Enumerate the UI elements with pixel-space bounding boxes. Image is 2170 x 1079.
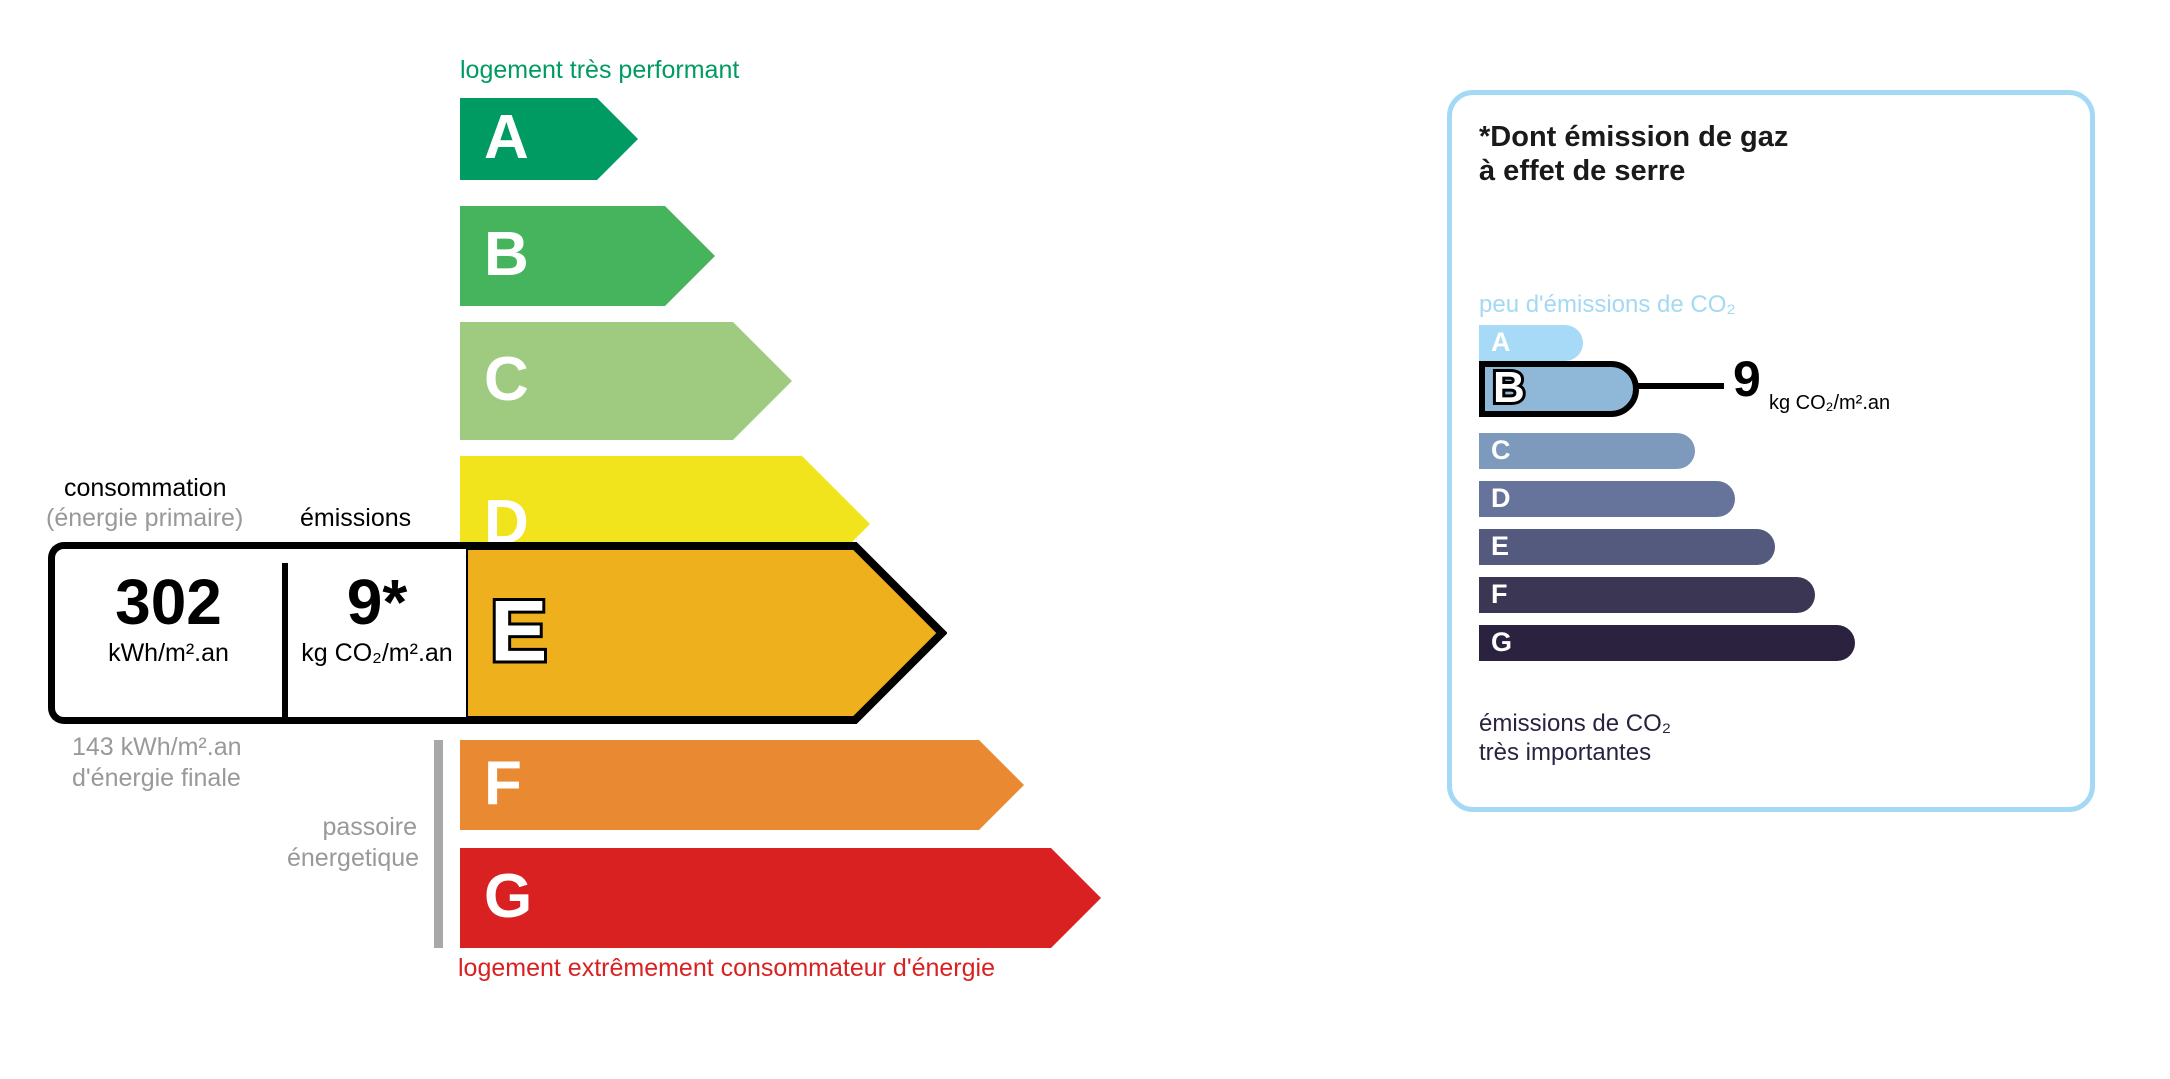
co2-band-G-letter: G: [1491, 629, 1512, 656]
co2-band-F[interactable]: F: [1479, 577, 1815, 613]
energy-band-G-letter: G: [484, 866, 532, 928]
co2-band-B-selected[interactable]: B: [1479, 361, 1639, 417]
consumption-label: consommation: [64, 474, 227, 503]
co2-band-G-bar: [1479, 625, 1855, 661]
energy-band-F-letter: F: [484, 753, 522, 815]
energy-band-F[interactable]: F: [460, 740, 1024, 830]
energy-scale-bottom-caption: logement extrêmement consommateur d'éner…: [458, 954, 995, 983]
primary-energy-label: (énergie primaire): [46, 504, 243, 533]
energy-band-F-shape: [460, 740, 1024, 830]
co2-band-C-bar: [1479, 433, 1695, 469]
energy-performance-chart: logement très performant A B C: [0, 0, 1400, 1079]
co2-band-A[interactable]: A: [1479, 325, 1583, 361]
final-energy-label: 143 kWh/m².an d'énergie finale: [72, 732, 242, 793]
dpe-value-box: 302 kWh/m².an 9* kg CO₂/m².an: [48, 542, 466, 724]
emissions-value: 9*: [288, 569, 466, 636]
energy-sieve-label: passoire énergetique: [287, 812, 417, 873]
energy-band-E-selected[interactable]: E: [460, 542, 947, 724]
energy-band-C[interactable]: C: [460, 322, 792, 440]
co2-band-A-letter: A: [1491, 329, 1511, 356]
emissions-value-cell: 9* kg CO₂/m².an: [288, 569, 466, 668]
co2-leader-line: [1636, 383, 1724, 389]
energy-band-G-shape: [460, 848, 1101, 948]
co2-value: 9: [1733, 354, 1761, 404]
co2-band-D[interactable]: D: [1479, 481, 1735, 517]
energy-sieve-divider: [434, 740, 443, 948]
energy-band-A[interactable]: A: [460, 98, 638, 180]
co2-band-D-letter: D: [1491, 485, 1511, 512]
co2-scale-bottom-caption: émissions de CO₂ très importantes: [1479, 709, 1671, 768]
co2-band-C[interactable]: C: [1479, 433, 1695, 469]
co2-band-E[interactable]: E: [1479, 529, 1775, 565]
energy-band-E-letter: E: [490, 588, 547, 674]
co2-band-E-letter: E: [1491, 533, 1509, 560]
energy-band-A-letter: A: [484, 107, 529, 169]
energy-band-G[interactable]: G: [460, 848, 1101, 948]
co2-panel-title: *Dont émission de gaz à effet de serre: [1479, 121, 1788, 189]
emissions-unit: kg CO₂/m².an: [288, 638, 466, 668]
co2-scale-top-caption: peu d'émissions de CO₂: [1479, 291, 1736, 319]
co2-band-B-letter: B: [1493, 366, 1525, 410]
emissions-label: émissions: [300, 504, 411, 533]
energy-band-B[interactable]: B: [460, 206, 715, 306]
energy-band-B-letter: B: [484, 224, 529, 286]
co2-band-D-bar: [1479, 481, 1735, 517]
co2-band-F-bar: [1479, 577, 1815, 613]
consumption-unit: kWh/m².an: [55, 638, 282, 668]
co2-band-E-bar: [1479, 529, 1775, 565]
energy-band-C-letter: C: [484, 349, 529, 411]
energy-scale-top-caption: logement très performant: [460, 56, 739, 85]
consumption-value-cell: 302 kWh/m².an: [55, 569, 282, 668]
co2-value-unit: kg CO₂/m².an: [1769, 392, 1890, 415]
consumption-value: 302: [55, 569, 282, 636]
co2-band-F-letter: F: [1491, 581, 1508, 608]
co2-band-G[interactable]: G: [1479, 625, 1855, 661]
co2-emissions-panel: *Dont émission de gaz à effet de serre p…: [1447, 90, 2095, 812]
co2-band-C-letter: C: [1491, 437, 1511, 464]
